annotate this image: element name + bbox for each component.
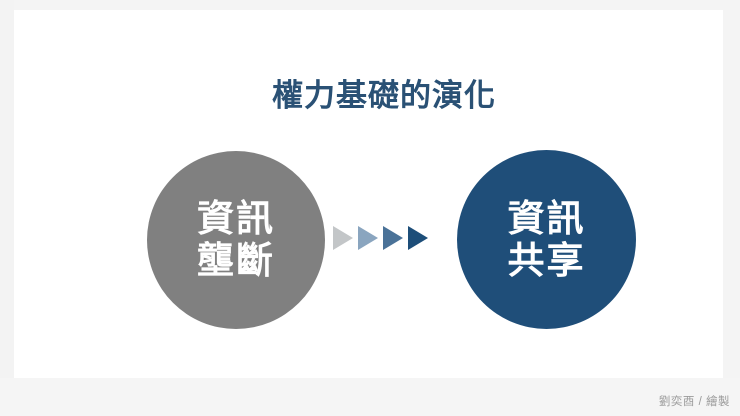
chevron-right-icon-3 bbox=[383, 226, 403, 250]
chevron-right-icon-2 bbox=[358, 226, 378, 250]
node-information-monopoly-line-2: 壟斷 bbox=[197, 240, 275, 282]
slide-canvas: 權力基礎的演化 資訊 壟斷 資訊 共享 劉奕酉 / 繪製 bbox=[0, 0, 740, 416]
slide-content-card: 權力基礎的演化 資訊 壟斷 資訊 共享 bbox=[14, 10, 723, 378]
page-title: 權力基礎的演化 bbox=[14, 76, 740, 116]
chevron-right-icon-4 bbox=[408, 226, 428, 250]
canvas-left-margin bbox=[0, 0, 14, 416]
canvas-bottom-margin bbox=[0, 378, 740, 416]
node-information-sharing-line-2: 共享 bbox=[508, 240, 586, 282]
chevron-right-icon-1 bbox=[333, 226, 353, 250]
author-credit: 劉奕酉 / 繪製 bbox=[659, 395, 730, 409]
transition-arrows bbox=[333, 225, 437, 251]
node-information-monopoly[interactable]: 資訊 壟斷 bbox=[147, 151, 325, 329]
node-information-sharing[interactable]: 資訊 共享 bbox=[457, 150, 636, 329]
node-information-sharing-line-1: 資訊 bbox=[508, 198, 586, 240]
node-information-monopoly-line-1: 資訊 bbox=[197, 198, 275, 240]
